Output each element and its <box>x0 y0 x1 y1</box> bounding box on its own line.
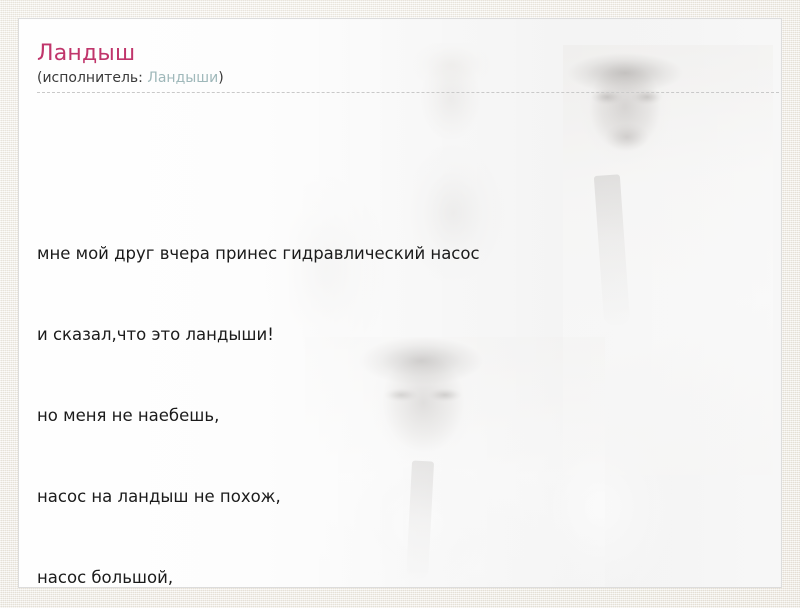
page-title: Ландыш <box>37 41 761 67</box>
artist-link[interactable]: Ландыши <box>147 70 218 86</box>
artist-line: (исполнитель: Ландыши) <box>37 69 782 93</box>
lyric-line: насос большой, <box>37 564 761 588</box>
artist-suffix-label: ) <box>218 70 223 86</box>
lyrics-text: мне мой друг вчера принес гидравлический… <box>37 105 761 588</box>
card-content: Ландыш (исполнитель: Ландыши) мне мой др… <box>19 19 781 588</box>
lyric-line: насос на ландыш не похож, <box>37 483 761 510</box>
lyric-line: мне мой друг вчера принес гидравлический… <box>37 240 761 267</box>
artist-prefix-label: (исполнитель: <box>37 70 147 86</box>
lyrics-stanza: мне мой друг вчера принес гидравлический… <box>37 186 761 588</box>
lyrics-card: Ландыш (исполнитель: Ландыши) мне мой др… <box>18 18 782 588</box>
lyric-line: и сказал,что это ландыши! <box>37 321 761 348</box>
lyric-line: но меня не наебешь, <box>37 402 761 429</box>
